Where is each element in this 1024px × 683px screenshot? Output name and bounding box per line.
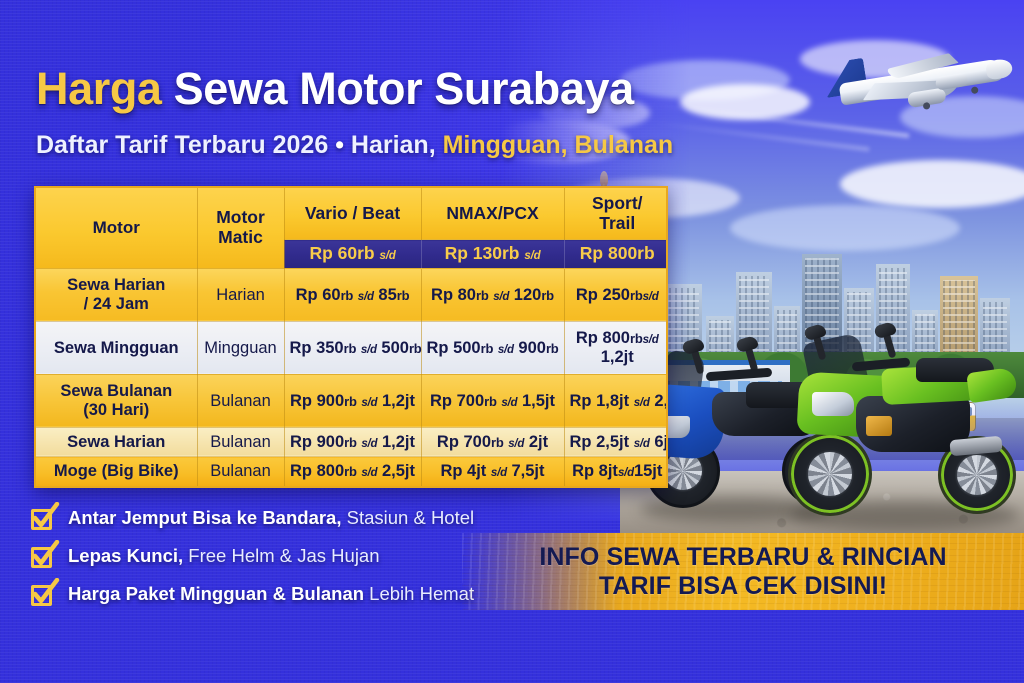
checkmark-icon [30, 582, 55, 607]
poster-canvas: Harga Sewa Motor Surabaya Daftar Tarif T… [0, 0, 1024, 683]
cell-nmax: Rp 500rb s/d 900rb [421, 321, 564, 374]
row-label-l1: Sewa Harian [67, 276, 165, 294]
price-bar-sport: Rp 800rb [564, 240, 668, 269]
table-header-row: Motor Motor Matic Vario / Beat NMAX/PCX … [36, 188, 668, 240]
column-header-motor: Motor [36, 188, 197, 268]
column-header-matic-l1: Motor [216, 207, 265, 227]
row-label-l2: (30 Hari) [83, 401, 149, 419]
rates-table: Motor Motor Matic Vario / Beat NMAX/PCX … [36, 188, 668, 486]
page-title: Harga Sewa Motor Surabaya [36, 66, 696, 113]
cell-vario: Rp 60rb s/d 85rb [284, 268, 421, 321]
checkmark-icon [30, 506, 55, 531]
table-row: Moge (Big Bike) Bulanan Rp 800rb s/d 2,5… [36, 457, 668, 486]
row-label: Sewa Mingguan [36, 321, 197, 374]
price-bar-sport-amount: Rp 800rb [580, 243, 655, 263]
cell-sport: Rp 250rbs/d [564, 268, 668, 321]
row-label: Sewa Harian / 24 Jam [36, 268, 197, 321]
subtitle-bullet: • [335, 131, 344, 159]
price-bar-vario-sd: s/d [380, 250, 396, 262]
column-header-motor-label: Motor [93, 218, 140, 237]
cell-vario: Rp 900rb s/d 1,2jt [284, 374, 421, 427]
feature-text: Harga Paket Mingguan & Bulanan Lebih Hem… [68, 583, 474, 605]
feature-text-bold: Lepas Kunci, [68, 545, 183, 566]
cell-vario: Rp 350rb s/d 500rb [284, 321, 421, 374]
price-bar-nmax-sd: s/d [524, 250, 540, 262]
price-bar-vario-amount: Rp 60rb [309, 243, 374, 263]
table-row: Sewa Harian / 24 Jam Harian Rp 60rb s/d … [36, 268, 668, 321]
feature-text-rest: Free Helm & Jas Hujan [183, 545, 379, 566]
column-header-vario-label: Vario / Beat [305, 203, 400, 223]
price-bar-nmax: Rp 130rb s/d [421, 240, 564, 269]
column-header-sport-trail: Sport/ Trail [564, 188, 668, 240]
cta-text: INFO SEWA TERBARU & RINCIAN TARIF BISA C… [539, 543, 946, 600]
row-matic: Bulanan [197, 457, 284, 486]
cell-nmax: Rp 700rb s/d 1,5jt [421, 374, 564, 427]
cell-sport: Rp 2,5jt s/d 6jt [564, 427, 668, 457]
column-header-vario-beat: Vario / Beat [284, 188, 421, 240]
price-bar-nmax-amount: Rp 130rb [445, 243, 520, 263]
motorcycle-group [620, 330, 1024, 545]
row-label-l2: / 24 Jam [84, 295, 149, 313]
column-header-matic-l2: Matic [218, 227, 263, 247]
list-item: Antar Jemput Bisa ke Bandara, Stasiun & … [30, 500, 550, 536]
feature-text-bold: Antar Jemput Bisa ke Bandara, [68, 507, 341, 528]
column-header-motor-matic: Motor Matic [197, 188, 284, 268]
column-header-nmax-pcx: NMAX/PCX [421, 188, 564, 240]
cell-nmax: Rp 700rb s/d 2jt [421, 427, 564, 457]
feature-text: Lepas Kunci, Free Helm & Jas Hujan [68, 545, 380, 567]
cloud [730, 205, 960, 251]
cell-nmax: Rp 4jt s/d 7,5jt [421, 457, 564, 486]
table-header: Motor Motor Matic Vario / Beat NMAX/PCX … [36, 188, 668, 268]
table-row: Sewa Mingguan Mingguan Rp 350rb s/d 500r… [36, 321, 668, 374]
row-label: Moge (Big Bike) [36, 457, 197, 486]
price-bar-vario: Rp 60rb s/d [284, 240, 421, 269]
cell-vario: Rp 900rb s/d 1,2jt [284, 427, 421, 457]
cta-banner[interactable]: INFO SEWA TERBARU & RINCIAN TARIF BISA C… [462, 533, 1024, 610]
cell-nmax: Rp 80rb s/d 120rb [421, 268, 564, 321]
rates-table-container: Motor Motor Matic Vario / Beat NMAX/PCX … [34, 186, 668, 488]
cta-line-2: TARIF BISA CEK DISINI! [539, 572, 946, 601]
subtitle-part1: Daftar Tarif Terbaru 2026 [36, 131, 335, 159]
column-header-nmax-label: NMAX/PCX [446, 203, 538, 223]
row-matic: Harian [197, 268, 284, 321]
table-row: Sewa Harian Bulanan Rp 900rb s/d 1,2jt R… [36, 427, 668, 457]
cell-sport: Rp 1,8jt s/d 2,8jt [564, 374, 668, 427]
title-highlight: Harga [36, 63, 162, 114]
row-label-l1: Sewa Bulanan [60, 382, 172, 400]
row-matic: Mingguan [197, 321, 284, 374]
row-matic: Bulanan [197, 427, 284, 457]
cloud [840, 160, 1024, 208]
table-body: Sewa Harian / 24 Jam Harian Rp 60rb s/d … [36, 268, 668, 486]
feature-text-rest: Lebih Hemat [364, 583, 474, 604]
cta-line-1: INFO SEWA TERBARU & RINCIAN [539, 543, 946, 572]
row-label: Sewa Bulanan (30 Hari) [36, 374, 197, 427]
feature-text-bold: Harga Paket Mingguan & Bulanan [68, 583, 364, 604]
column-header-sport-l2: Trail [599, 213, 635, 233]
feature-text: Antar Jemput Bisa ke Bandara, Stasiun & … [68, 507, 474, 529]
subtitle-part2: Harian, [344, 131, 443, 159]
column-header-sport-l1: Sport/ [592, 193, 643, 213]
cell-sport: Rp 800rbs/d 1,2jt [564, 321, 668, 374]
page-subtitle: Daftar Tarif Terbaru 2026 • Harian, Ming… [36, 131, 736, 160]
feature-text-rest: Stasiun & Hotel [341, 507, 474, 528]
cell-vario: Rp 800rb s/d 2,5jt [284, 457, 421, 486]
title-rest: Sewa Motor Surabaya [162, 63, 634, 114]
subtitle-highlight: Mingguan, Bulanan [443, 131, 674, 159]
cell-sport: Rp 8jts/d15jt [564, 457, 668, 486]
checkmark-icon [30, 544, 55, 569]
table-row: Sewa Bulanan (30 Hari) Bulanan Rp 900rb … [36, 374, 668, 427]
row-matic: Bulanan [197, 374, 284, 427]
row-label: Sewa Harian [36, 427, 197, 457]
